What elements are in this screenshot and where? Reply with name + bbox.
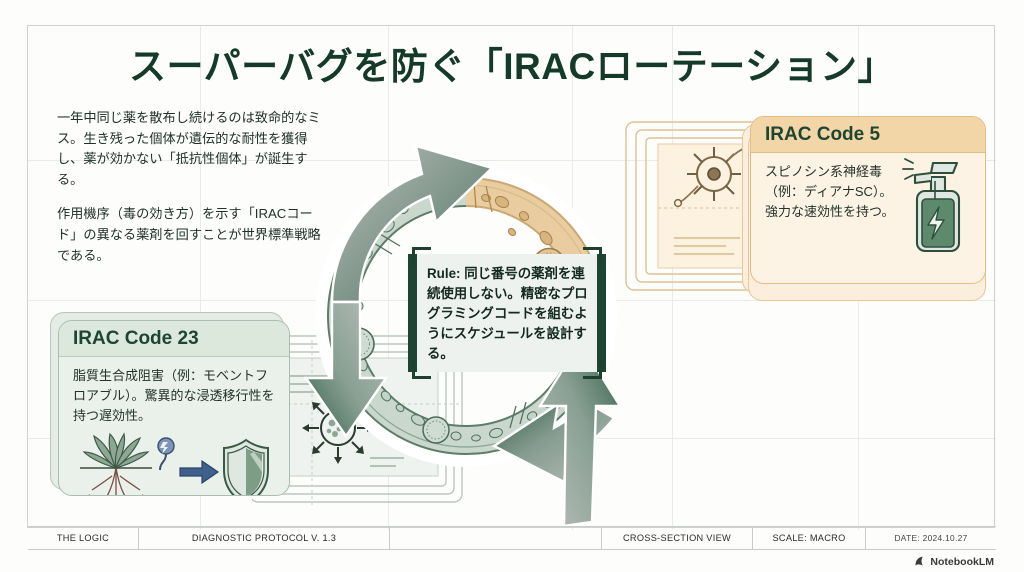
corner-bracket-icon — [412, 360, 431, 379]
plant-roots-shield-icon — [74, 432, 274, 496]
footer-scale: SCALE: MACRO — [753, 527, 866, 549]
footer-protocol: DIAGNOSTIC PROTOCOL V. 1.3 — [139, 527, 390, 549]
footer-view: CROSS-SECTION VIEW — [602, 527, 753, 549]
irac-code23-card[interactable]: IRAC Code 23 脂質生合成阻害（例：モベントフロアブル）。驚異的な浸透… — [58, 320, 290, 496]
irac-code23-body-text: 脂質生合成阻害（例：モベントフロアブル）。驚異的な浸透移行性を持つ遅効性。 — [73, 366, 275, 426]
notebooklm-watermark: NotebookLM — [913, 555, 994, 568]
rule-box-text: Rule: 同じ番号の薬剤を連続使用しない。精密なプログラミングコードを組むよう… — [427, 264, 589, 365]
irac-code5-heading: IRAC Code 5 — [751, 117, 985, 153]
notebooklm-logo-icon — [913, 555, 926, 568]
footer-logic: THE LOGIC — [28, 527, 139, 549]
irac-code5-body-text: スピノシン系神経毒（例：ディアナSC）。強力な速効性を持つ。 — [765, 162, 897, 222]
intro-paragraph-1: 一年中同じ薬を散布し続けるのは致命的なミス。生き残った個体が遺伝的な耐性を獲得し… — [57, 108, 325, 190]
irac-code23-heading: IRAC Code 23 — [59, 321, 289, 357]
corner-bracket-icon — [412, 247, 431, 266]
footer-date: DATE: 2024.10.27 — [866, 527, 996, 549]
irac-code23-body: 脂質生合成阻害（例：モベントフロアブル）。驚異的な浸透移行性を持つ遅効性。 — [59, 357, 289, 496]
irac-code5-body: スピノシン系神経毒（例：ディアナSC）。強力な速効性を持つ。 — [751, 153, 985, 232]
notebooklm-watermark-label: NotebookLM — [930, 556, 994, 568]
footer-spacer — [390, 527, 602, 549]
intro-paragraph-2: 作用機序（毒の効き方）を示す「IRACコード」の異なる薬剤を回すことが世界標準戦… — [57, 204, 325, 266]
corner-bracket-icon — [583, 360, 602, 379]
rule-box: Rule: 同じ番号の薬剤を連続使用しない。精密なプログラミングコードを組むよう… — [408, 254, 606, 372]
corner-bracket-icon — [583, 247, 602, 266]
slide-canvas: スーパーバグを防ぐ「IRACローテーション」 一年中同じ薬を散布し続けるのは致命… — [0, 0, 1024, 572]
spray-bottle-icon — [891, 151, 975, 257]
irac-code5-card[interactable]: IRAC Code 5 スピノシン系神経毒（例：ディアナSC）。強力な速効性を持… — [750, 116, 986, 284]
footer-bar: THE LOGIC DIAGNOSTIC PROTOCOL V. 1.3 CRO… — [28, 526, 996, 550]
page-title: スーパーバグを防ぐ「IRACローテーション」 — [0, 36, 1024, 90]
intro-text-block: 一年中同じ薬を散布し続けるのは致命的なミス。生き残った個体が遺伝的な耐性を獲得し… — [57, 108, 325, 280]
